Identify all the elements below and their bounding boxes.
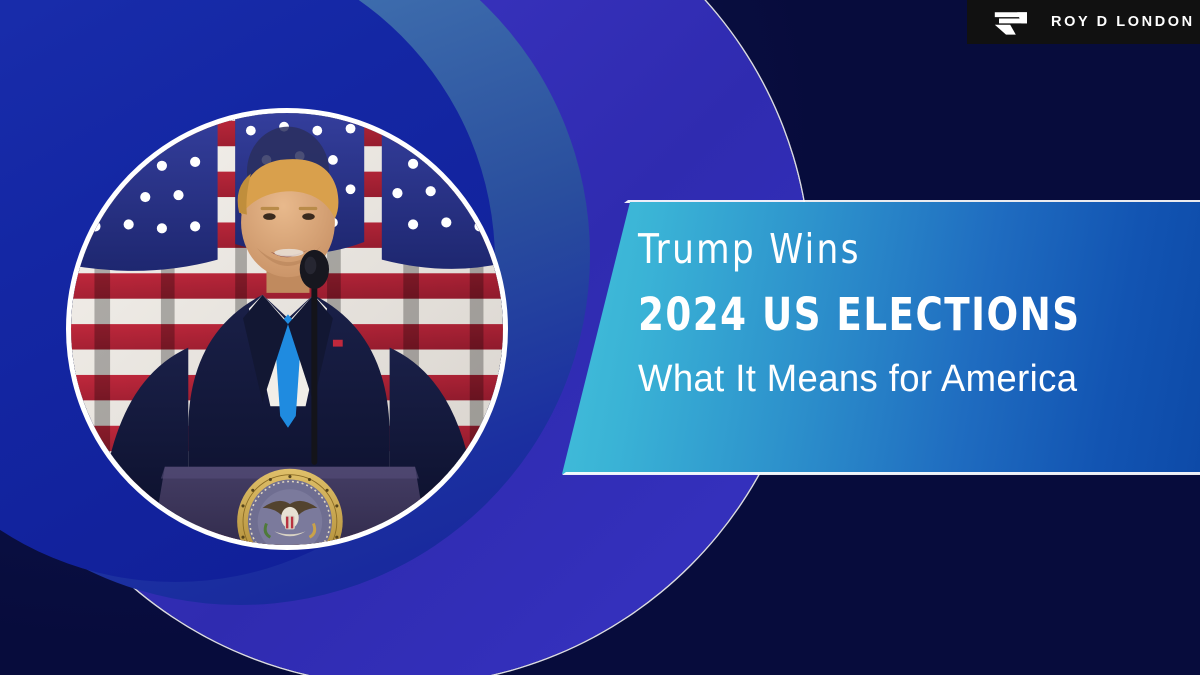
headline-text-block: Trump Wins 2024 US ELECTIONS What It Mea… [638, 228, 1178, 400]
photo-clip [71, 113, 503, 545]
brand-logo-plate[interactable]: ROY D LONDON [967, 0, 1200, 44]
headline-line-3: What It Means for America [638, 360, 1156, 400]
banner-bottom-border [562, 472, 1200, 475]
trump-podium-photo-icon [71, 113, 503, 545]
promo-banner-canvas: Trump Wins 2024 US ELECTIONS What It Mea… [0, 0, 1200, 675]
trump-photo-medallion [66, 108, 508, 550]
headline-line-2: 2024 US ELECTIONS [638, 291, 1135, 338]
brand-name-label: ROY D LONDON [1051, 14, 1195, 30]
headline-line-1: Trump Wins [638, 228, 1140, 271]
roy-d-london-r-monogram-icon [991, 8, 1035, 36]
